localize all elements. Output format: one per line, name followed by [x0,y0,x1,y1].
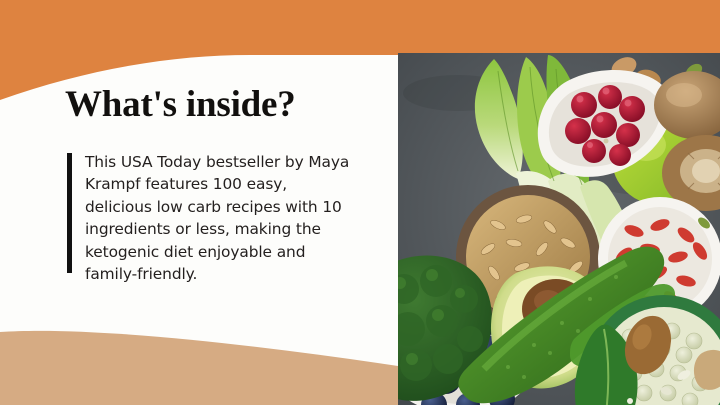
food-flatlay-illustration [398,53,720,405]
tan-curved-band [0,331,398,405]
text-column: What's inside? This USA Today bestseller… [0,55,398,335]
page-title: What's inside? [65,85,296,125]
accent-bar [67,153,72,273]
body-paragraph: This USA Today bestseller by Maya Krampf… [85,151,357,285]
food-flatlay-photo [398,53,720,405]
slide-canvas: What's inside? This USA Today bestseller… [0,0,720,405]
body-block: This USA Today bestseller by Maya Krampf… [67,151,387,285]
